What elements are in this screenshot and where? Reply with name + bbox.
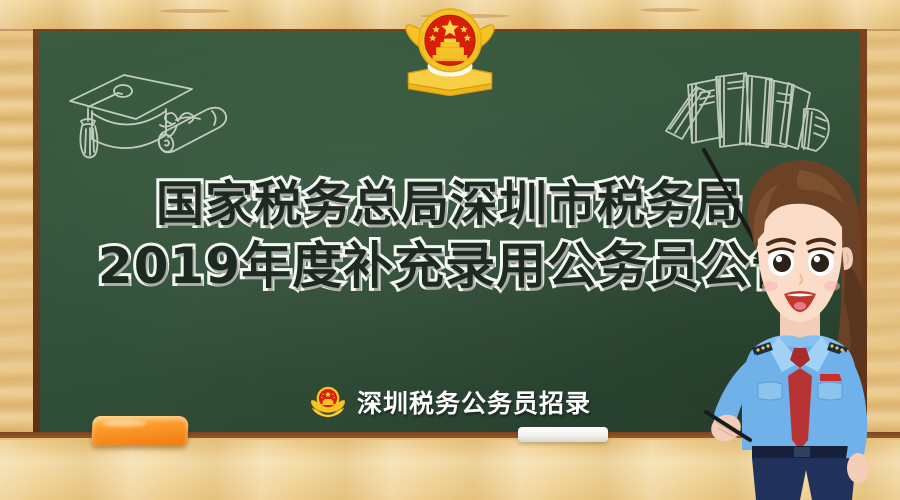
tax-bureau-emblem-icon [398, 2, 502, 102]
tax-bureau-emblem-small-icon [309, 383, 347, 421]
chalk-stick-icon [518, 427, 608, 442]
pointer-stick-icon [704, 150, 754, 240]
graduation-cap-icon [62, 63, 252, 183]
subtitle-text: 深圳税务公务员招录 [357, 384, 591, 420]
blackboard-eraser-icon [91, 416, 189, 446]
female-tax-officer-illustration [696, 140, 900, 500]
poster-banner: 国家税务总局深圳市税务局 2019年度补充录用公务员公告 [0, 0, 900, 500]
